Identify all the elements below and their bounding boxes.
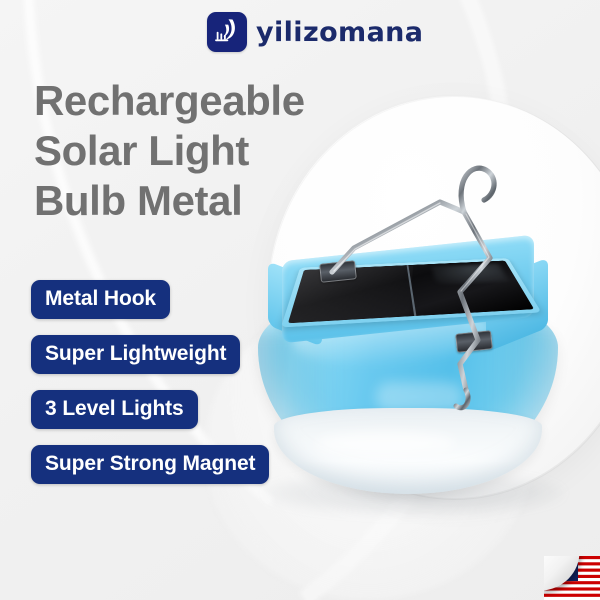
feature-badge-super-lightweight: Super Lightweight [31, 335, 240, 374]
product-image [228, 140, 600, 540]
metal-hook [228, 140, 600, 540]
brand-wordmark: yilizomana [256, 19, 423, 46]
feature-badge-3-level-lights: 3 Level Lights [31, 390, 198, 429]
product-banner: yilizomana Rechargeable Solar Light Bulb… [0, 0, 600, 600]
brand-logo: yilizomana [207, 12, 423, 52]
malaysia-flag-corner-badge [544, 556, 600, 600]
feature-badge-metal-hook: Metal Hook [31, 280, 170, 319]
flame-leaf-logo-icon [207, 12, 247, 52]
headline-line-1: Rechargeable [34, 76, 394, 126]
